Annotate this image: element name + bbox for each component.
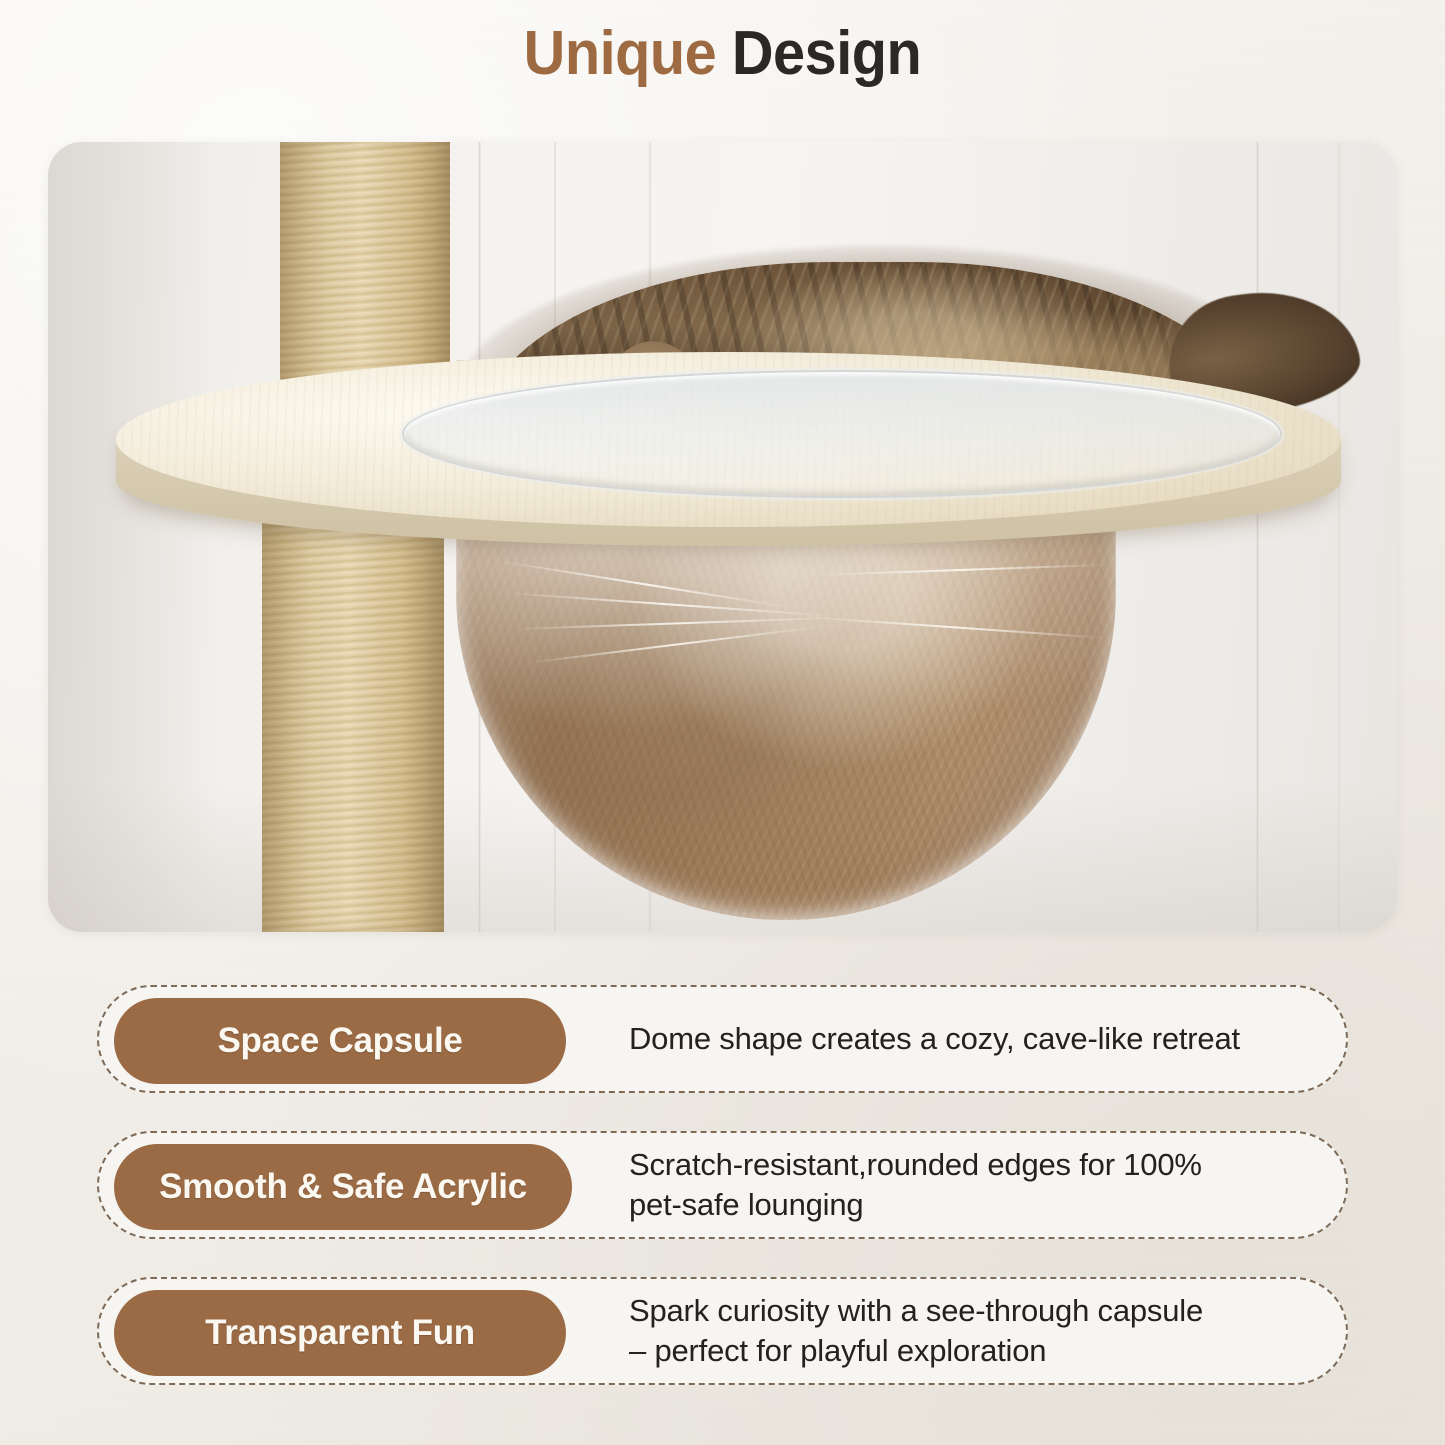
- dome-mounting-rim: [402, 370, 1282, 498]
- feature-description-line: Spark curiosity with a see-through capsu…: [629, 1291, 1312, 1331]
- feature-list: Space Capsule Dome shape creates a cozy,…: [97, 985, 1348, 1385]
- product-photo-card: [48, 142, 1397, 932]
- page-header: Unique Design: [0, 18, 1445, 89]
- feature-row: Space Capsule Dome shape creates a cozy,…: [97, 985, 1348, 1093]
- feature-row: Transparent Fun Spark curiosity with a s…: [97, 1277, 1348, 1385]
- feature-description: Spark curiosity with a see-through capsu…: [629, 1291, 1312, 1370]
- feature-description: Dome shape creates a cozy, cave-like ret…: [629, 1019, 1312, 1059]
- feature-description: Scratch-resistant,rounded edges for 100%…: [629, 1145, 1312, 1224]
- sisal-post-lower: [262, 522, 444, 932]
- feature-badge-space-capsule: Space Capsule: [114, 998, 566, 1084]
- feature-description-line: Scratch-resistant,rounded edges for 100%: [629, 1145, 1312, 1185]
- wooden-platform: [116, 352, 1341, 552]
- feature-row: Smooth & Safe Acrylic Scratch-resistant,…: [97, 1131, 1348, 1239]
- feature-badge-transparent-fun: Transparent Fun: [114, 1290, 566, 1376]
- feature-description-line: pet-safe lounging: [629, 1185, 1312, 1225]
- page-title: Unique Design: [51, 18, 1395, 89]
- feature-badge-smooth-safe-acrylic: Smooth & Safe Acrylic: [114, 1144, 572, 1230]
- feature-description-line: – perfect for playful exploration: [629, 1331, 1312, 1371]
- page-title-rest: Design: [732, 19, 921, 88]
- feature-description-line: Dome shape creates a cozy, cave-like ret…: [629, 1019, 1312, 1059]
- page-title-accent: Unique: [524, 19, 717, 88]
